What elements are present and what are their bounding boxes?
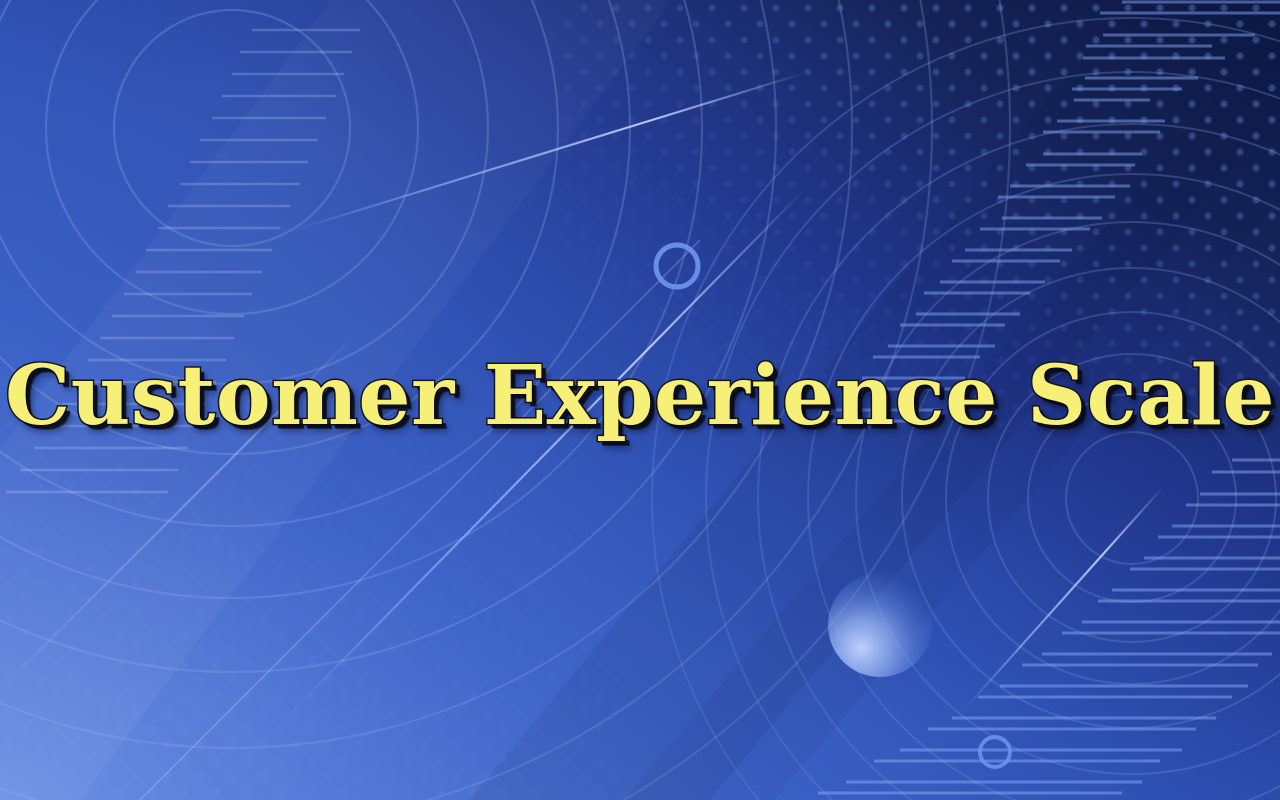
banner-canvas: Customer Experience Scale [0,0,1280,800]
page-title: Customer Experience Scale [5,355,1275,437]
title-container: Customer Experience Scale [0,0,1280,800]
